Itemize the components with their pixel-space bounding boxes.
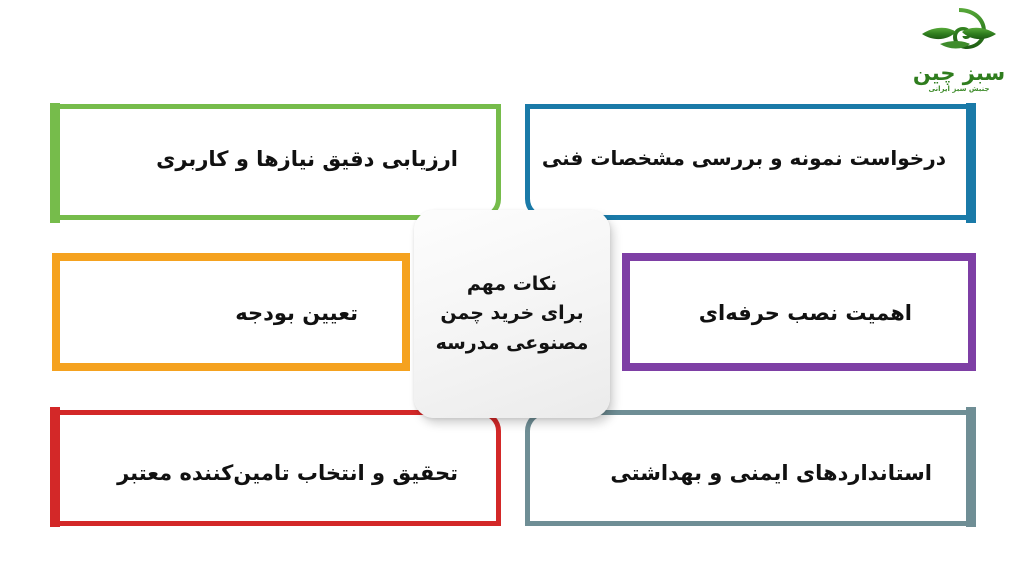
- logo-brand-text: سبز چین: [904, 63, 1014, 84]
- node-label: تعیین بودجه: [235, 300, 358, 326]
- site-logo: سبز چین جنبش سبز ایرانی: [904, 4, 1014, 100]
- center-title-line-3: مصنوعی مدرسه: [436, 329, 589, 358]
- node-label: درخواست نمونه و بررسی مشخصات فنی: [542, 146, 946, 171]
- center-title: نکات مهم برای خرید چمن مصنوعی مدرسه: [428, 270, 597, 358]
- node-label: استانداردهای ایمنی و بهداشتی: [610, 460, 932, 486]
- node-label: اهمیت نصب حرفه‌ای: [699, 300, 912, 326]
- node-sample-request[interactable]: درخواست نمونه و بررسی مشخصات فنی: [524, 103, 976, 223]
- node-label: تحقیق و انتخاب تامین‌کننده معتبر: [117, 460, 458, 486]
- node-professional-installation[interactable]: اهمیت نصب حرفه‌ای: [622, 253, 976, 371]
- center-topic-card: نکات مهم برای خرید چمن مصنوعی مدرسه: [414, 210, 610, 418]
- green-leaf-swirl-logo-icon: [904, 4, 1014, 62]
- node-needs-assessment[interactable]: ارزیابی دقیق نیازها و کاربری: [50, 103, 502, 223]
- center-title-line-1: نکات مهم: [436, 270, 589, 299]
- node-supplier-selection[interactable]: تحقیق و انتخاب تامین‌کننده معتبر: [50, 405, 502, 527]
- center-title-line-2: برای خرید چمن: [436, 299, 589, 328]
- node-safety-standards[interactable]: استانداردهای ایمنی و بهداشتی: [524, 405, 976, 527]
- node-label: ارزیابی دقیق نیازها و کاربری: [156, 146, 458, 172]
- node-budget[interactable]: تعیین بودجه: [52, 253, 410, 371]
- logo-tagline: جنبش سبز ایرانی: [904, 86, 1014, 93]
